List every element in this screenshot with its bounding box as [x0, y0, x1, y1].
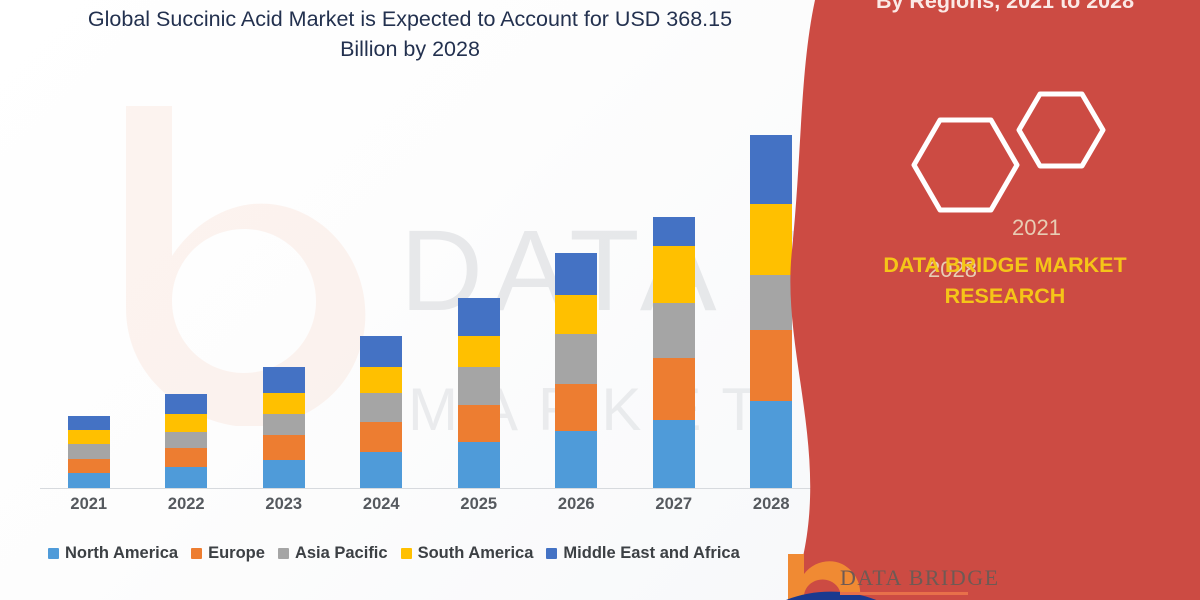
- bar-segment[interactable]: [555, 295, 597, 334]
- bar-group[interactable]: [360, 336, 402, 488]
- bar-segment[interactable]: [458, 442, 500, 488]
- bar-segment[interactable]: [165, 394, 207, 414]
- bar-segment[interactable]: [68, 473, 110, 488]
- chart-panel: DATA BRIDGE MARKET RESEARCH Global Succi…: [0, 0, 860, 600]
- bar-segment[interactable]: [263, 435, 305, 460]
- bar-group[interactable]: [68, 416, 110, 488]
- infographic-root: DATA BRIDGE MARKET RESEARCH Global Succi…: [0, 0, 1200, 600]
- bar-segment[interactable]: [360, 367, 402, 394]
- legend-label: North America: [65, 544, 178, 563]
- x-axis-tick-label: 2024: [336, 495, 426, 514]
- chart-title: Global Succinic Acid Market is Expected …: [60, 4, 760, 64]
- bar-segment[interactable]: [653, 303, 695, 358]
- x-axis-tick-label: 2027: [629, 495, 719, 514]
- bar-segment[interactable]: [263, 367, 305, 394]
- brand-line-1: DATA BRIDGE MARKET: [810, 250, 1200, 281]
- legend-swatch-icon: [278, 548, 289, 559]
- bar-segment[interactable]: [68, 430, 110, 444]
- bar-segment[interactable]: [458, 405, 500, 443]
- bar-segment[interactable]: [68, 459, 110, 473]
- legend-item[interactable]: Asia Pacific: [278, 544, 388, 563]
- bar-series-container: [40, 100, 820, 488]
- x-axis-line: [40, 488, 822, 489]
- x-axis-tick-label: 2023: [239, 495, 329, 514]
- legend-item[interactable]: Middle East and Africa: [546, 544, 739, 563]
- bar-segment[interactable]: [653, 246, 695, 303]
- hexagon-badges: 2021 2028: [810, 90, 1200, 215]
- plot-area: [40, 100, 820, 488]
- bar-segment[interactable]: [360, 422, 402, 452]
- bar-group[interactable]: [263, 367, 305, 488]
- brand-wordmark: DATA BRIDGE MARKET RESEARCH: [810, 250, 1200, 312]
- bar-segment[interactable]: [555, 431, 597, 488]
- brand-line-2: RESEARCH: [810, 281, 1200, 312]
- legend-label: South America: [418, 544, 534, 563]
- legend-item[interactable]: North America: [48, 544, 178, 563]
- bar-group[interactable]: [458, 298, 500, 488]
- bar-segment[interactable]: [653, 358, 695, 420]
- bar-segment[interactable]: [360, 393, 402, 421]
- x-axis-tick-label: 2025: [434, 495, 524, 514]
- legend-item[interactable]: South America: [401, 544, 534, 563]
- bar-segment[interactable]: [263, 393, 305, 414]
- bar-segment[interactable]: [555, 384, 597, 431]
- legend-item[interactable]: Europe: [191, 544, 265, 563]
- bar-segment[interactable]: [653, 217, 695, 246]
- bar-group[interactable]: [555, 253, 597, 488]
- legend-label: Europe: [208, 544, 265, 563]
- bar-segment[interactable]: [263, 414, 305, 435]
- bar-segment[interactable]: [653, 420, 695, 488]
- bar-group[interactable]: [653, 217, 695, 488]
- bar-segment[interactable]: [555, 253, 597, 296]
- bar-segment[interactable]: [360, 336, 402, 366]
- bar-segment[interactable]: [165, 414, 207, 432]
- bar-segment[interactable]: [458, 336, 500, 366]
- bar-segment[interactable]: [263, 460, 305, 488]
- bar-group[interactable]: [165, 394, 207, 488]
- right-panel-title: By Regions, 2021 to 2028: [810, 0, 1200, 16]
- bar-segment[interactable]: [68, 444, 110, 458]
- legend-label: Middle East and Africa: [563, 544, 739, 563]
- x-axis-tick-label: 2021: [44, 495, 134, 514]
- x-axis-tick-labels: 20212022202320242025202620272028: [40, 495, 820, 523]
- legend-swatch-icon: [401, 548, 412, 559]
- bar-segment[interactable]: [165, 448, 207, 467]
- hexagon-outline-icon: [810, 90, 1200, 215]
- legend-swatch-icon: [191, 548, 202, 559]
- x-axis-tick-label: 2026: [531, 495, 621, 514]
- right-red-panel: By Regions, 2021 to 2028 2021 2028 DATA …: [770, 0, 1200, 600]
- footer-logo-text: DATA BRIDGE: [840, 565, 1000, 590]
- bar-segment[interactable]: [360, 452, 402, 488]
- bar-segment[interactable]: [165, 467, 207, 488]
- legend-swatch-icon: [546, 548, 557, 559]
- footer-logo: DATA BRIDGE MARKET RESEARCH: [780, 550, 1040, 600]
- right-panel-content: By Regions, 2021 to 2028 2021 2028 DATA …: [770, 0, 1200, 600]
- bar-segment[interactable]: [458, 367, 500, 405]
- chart-legend: North AmericaEuropeAsia PacificSouth Ame…: [48, 540, 808, 566]
- bar-segment[interactable]: [165, 432, 207, 448]
- bar-segment[interactable]: [458, 298, 500, 336]
- bar-segment[interactable]: [68, 416, 110, 430]
- x-axis-tick-label: 2022: [141, 495, 231, 514]
- legend-label: Asia Pacific: [295, 544, 388, 563]
- hexagon-label-2021: 2021: [1012, 215, 1061, 241]
- bar-segment[interactable]: [555, 334, 597, 383]
- legend-swatch-icon: [48, 548, 59, 559]
